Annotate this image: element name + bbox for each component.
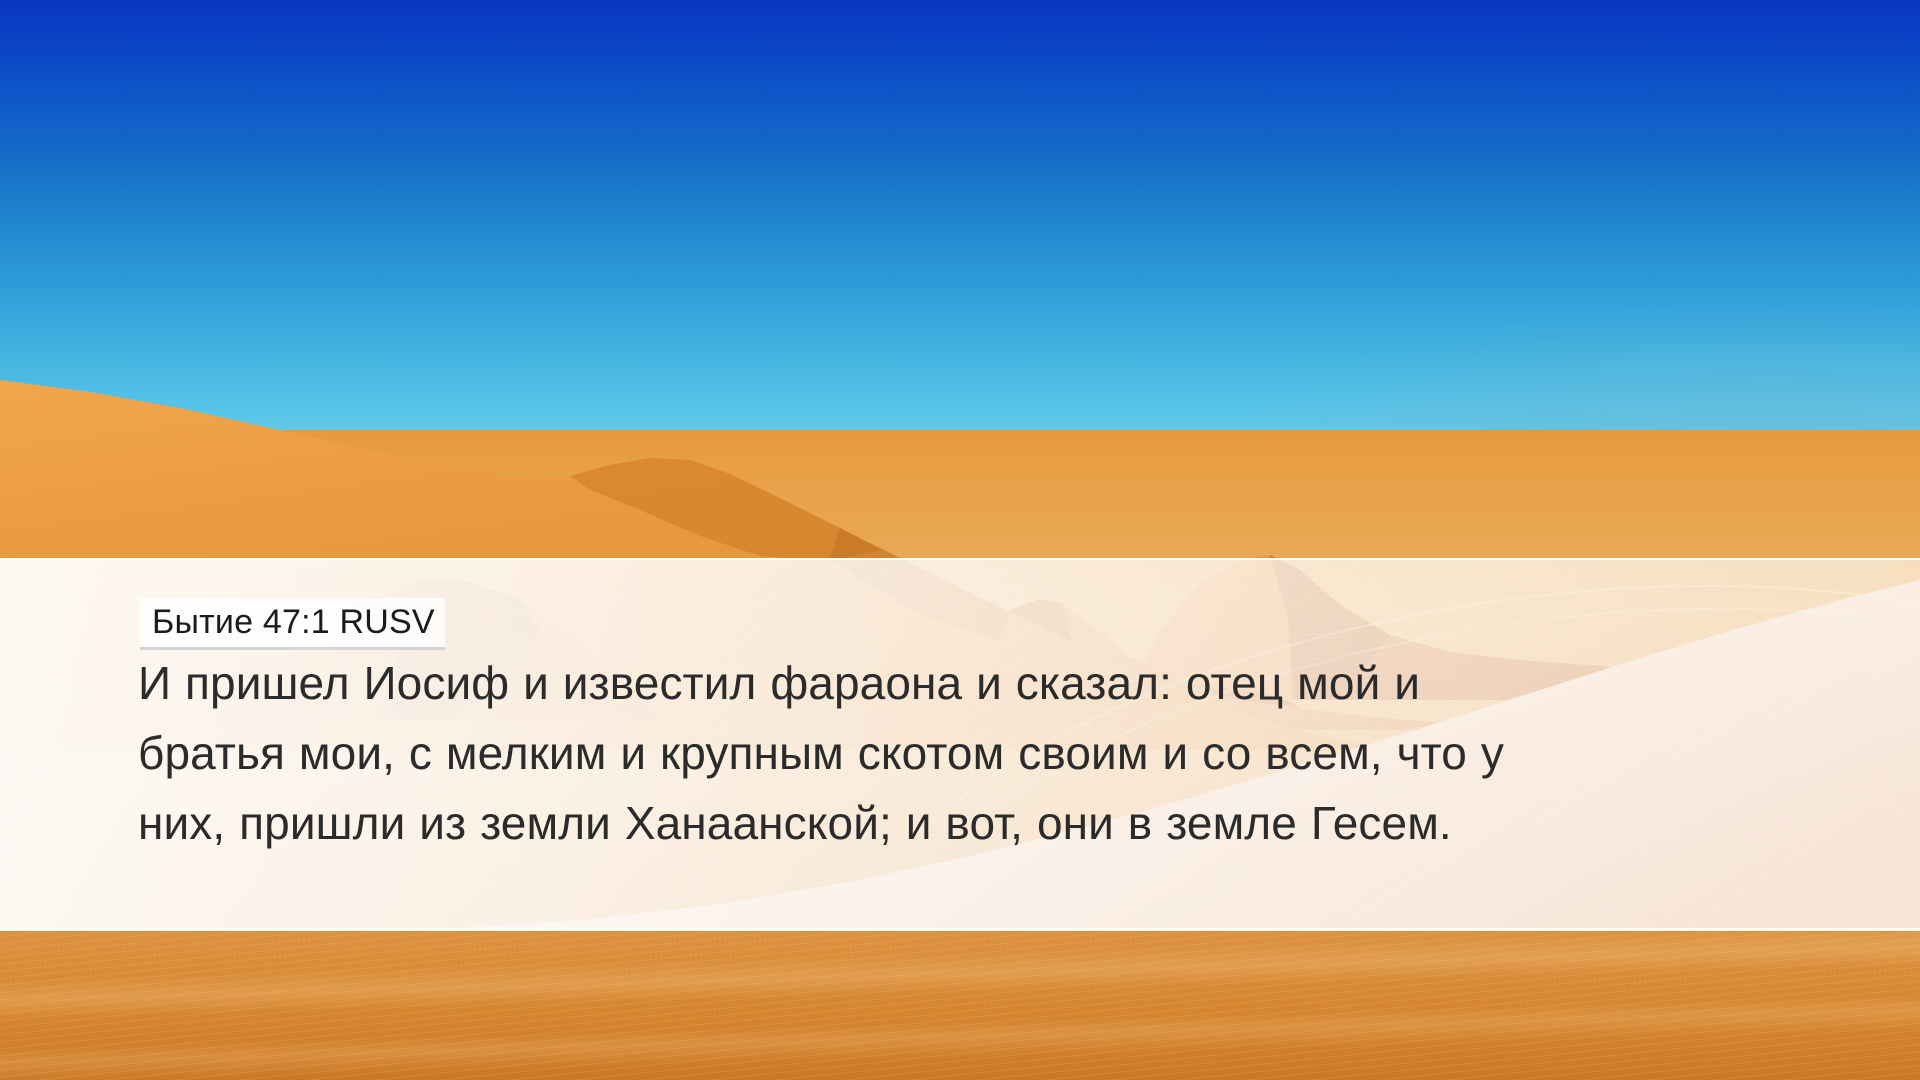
verse-reference: Бытие 47:1 RUSV: [140, 598, 445, 650]
verse-line: них, пришли из земли Ханаанской; и вот, …: [138, 788, 1788, 858]
verse-line: братья мои, с мелким и крупным скотом св…: [138, 718, 1788, 788]
verse-image-canvas: Бытие 47:1 RUSV И пришел Иосиф и извести…: [0, 0, 1920, 1080]
panel-bottom-edge: [0, 928, 1920, 931]
verse-text: И пришел Иосиф и известил фараона и сказ…: [138, 648, 1788, 858]
verse-line: И пришел Иосиф и известил фараона и сказ…: [138, 648, 1788, 718]
panel-top-edge: [0, 558, 1920, 560]
verse-reference-wrap: Бытие 47:1 RUSV: [140, 598, 445, 650]
